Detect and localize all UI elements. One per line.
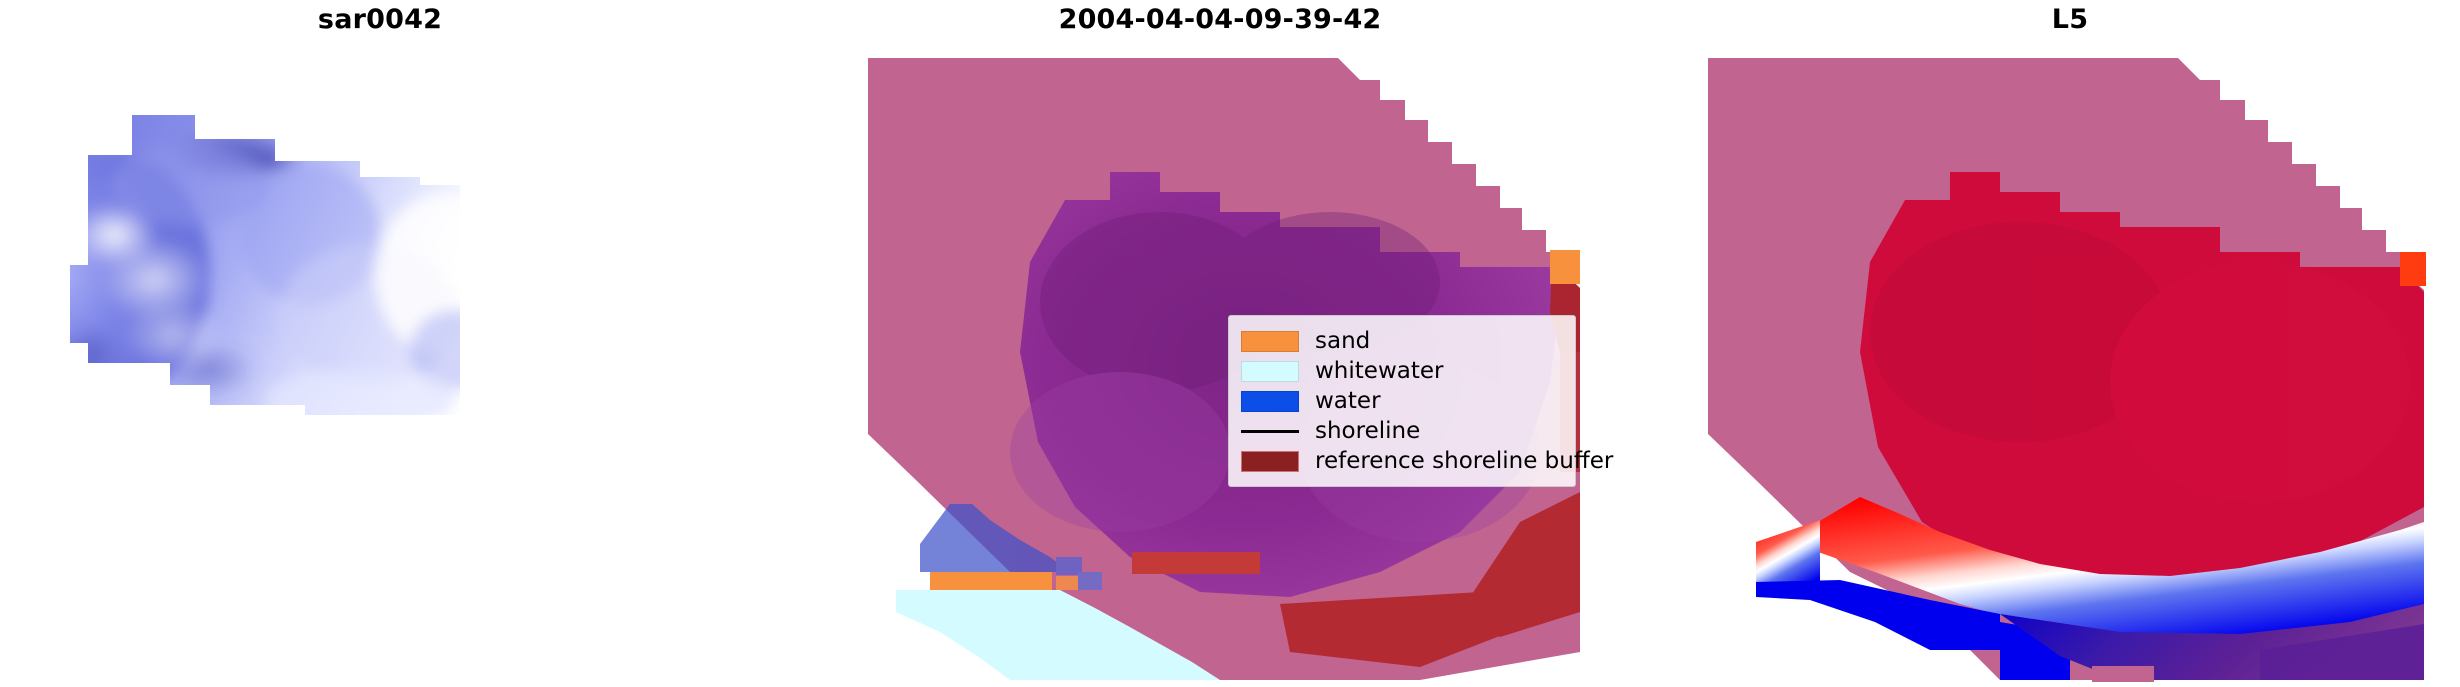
legend-item-reference-buffer[interactable]: reference shoreline buffer: [1241, 446, 1561, 476]
panel-classified: 2004-04-04-09-39-42: [800, 0, 1640, 687]
legend-label-shoreline: shoreline: [1315, 420, 1420, 443]
panel-title-l5: L5: [1680, 4, 2460, 35]
legend-item-whitewater[interactable]: whitewater: [1241, 356, 1561, 386]
sand-swatch-icon: [1241, 331, 1299, 352]
l5-sand-edge: [2400, 252, 2426, 286]
l5-raster-image: [1700, 52, 2440, 682]
panel-sar0042: sar0042: [0, 0, 760, 687]
panel-title-sar: sar0042: [0, 4, 760, 35]
water-swatch-icon: [1241, 391, 1299, 412]
shoreline-line-icon: [1241, 421, 1299, 442]
sar-axes: [60, 115, 480, 435]
legend-label-reference-buffer: reference shoreline buffer: [1315, 450, 1613, 473]
legend-item-sand[interactable]: sand: [1241, 326, 1561, 356]
panel-title-classified: 2004-04-04-09-39-42: [800, 4, 1640, 35]
legend-item-water[interactable]: water: [1241, 386, 1561, 416]
reference-buffer-swatch-icon: [1241, 451, 1299, 472]
whitewater-swatch-icon: [1241, 361, 1299, 382]
panel-l5: L5: [1680, 0, 2460, 687]
legend-label-water: water: [1315, 390, 1381, 413]
legend-label-sand: sand: [1315, 330, 1370, 353]
legend: sand whitewater water shoreline referenc…: [1228, 315, 1576, 487]
l5-axes: [1700, 52, 2440, 682]
figure-root: sar0042: [0, 0, 2460, 687]
legend-item-shoreline[interactable]: shoreline: [1241, 416, 1561, 446]
legend-label-whitewater: whitewater: [1315, 360, 1443, 383]
sar-raster-image: [60, 115, 480, 435]
